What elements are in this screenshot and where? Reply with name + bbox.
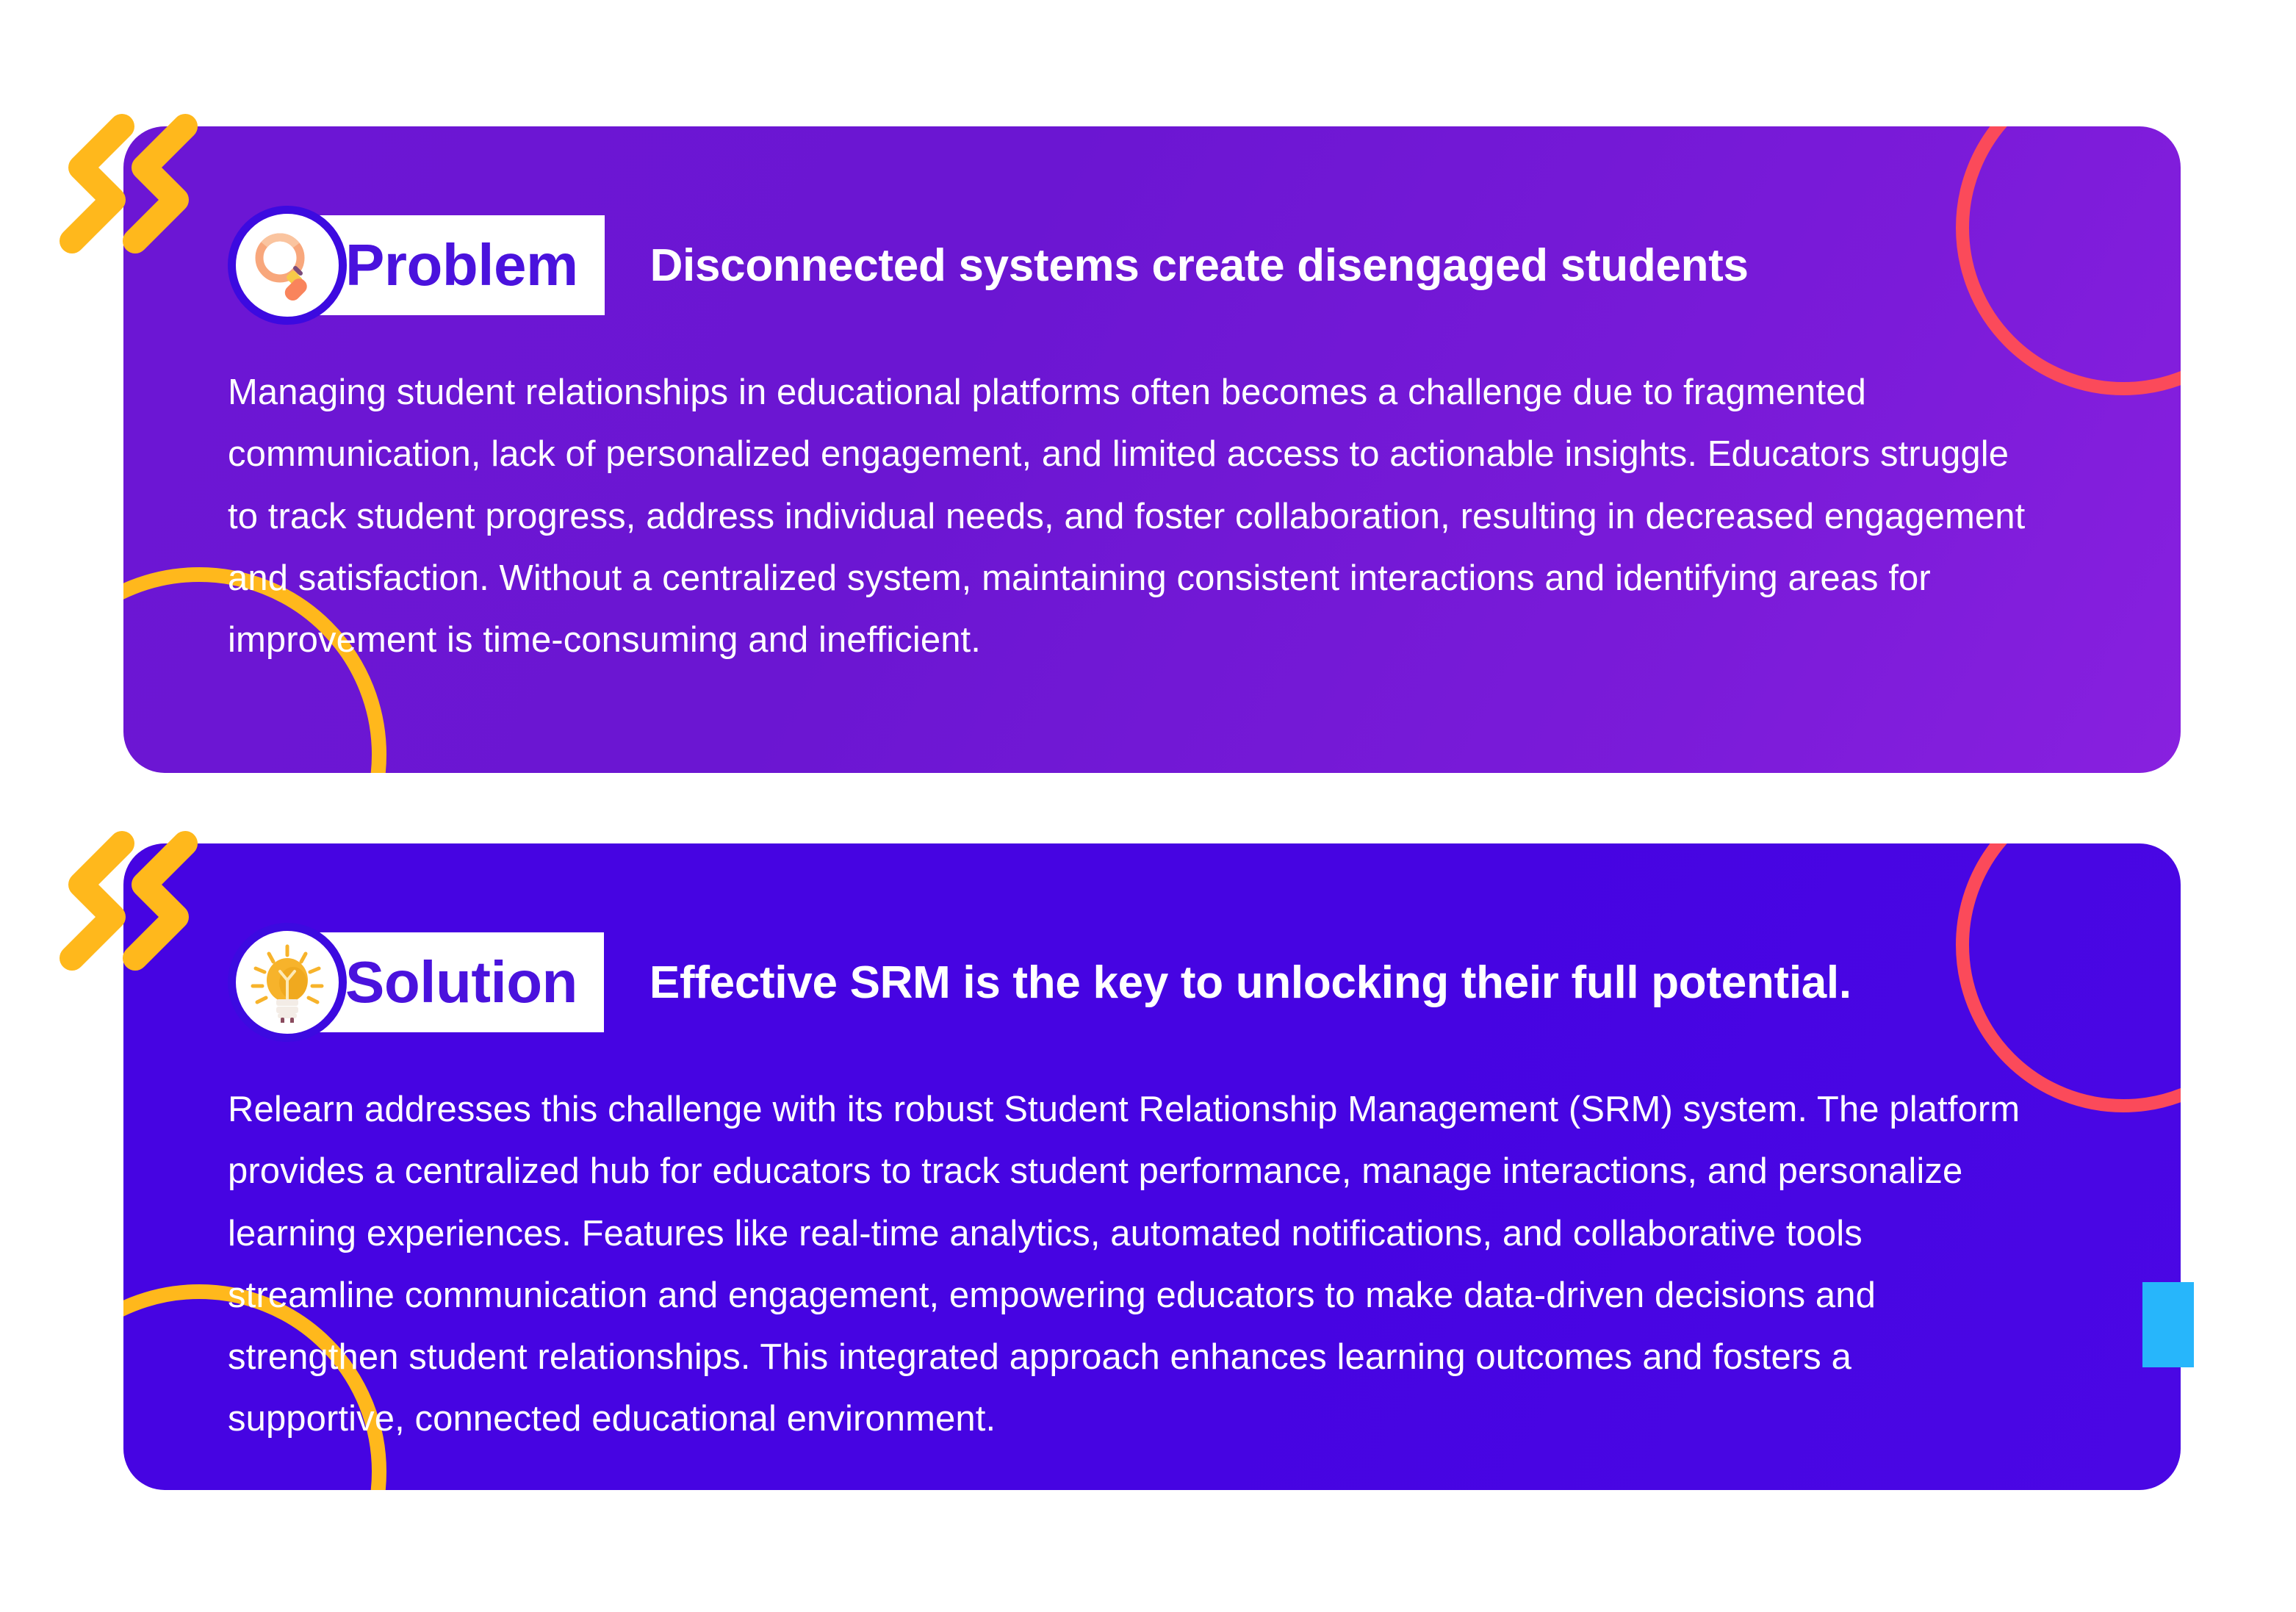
solution-badge: Solution bbox=[228, 923, 604, 1042]
solution-content: Solution Effective SRM is the key to unl… bbox=[228, 923, 2092, 1450]
solution-badge-label: Solution bbox=[304, 932, 604, 1032]
problem-content: Problem Disconnected systems create dise… bbox=[228, 206, 2092, 671]
lightbulb-icon bbox=[228, 923, 347, 1042]
magnifying-glass-icon bbox=[228, 206, 347, 325]
problem-badge-label: Problem bbox=[304, 215, 605, 315]
problem-badge: Problem bbox=[228, 206, 605, 325]
solution-body-text: Relearn addresses this challenge with it… bbox=[228, 1079, 2032, 1450]
page-canvas: Problem Disconnected systems create dise… bbox=[0, 0, 2296, 1612]
blue-square-decoration bbox=[2142, 1282, 2194, 1367]
solution-header-row: Solution Effective SRM is the key to unl… bbox=[228, 923, 2092, 1042]
solution-card: Solution Effective SRM is the key to unl… bbox=[123, 843, 2181, 1490]
problem-card: Problem Disconnected systems create dise… bbox=[123, 126, 2181, 773]
problem-header-row: Problem Disconnected systems create dise… bbox=[228, 206, 2092, 325]
problem-headline: Disconnected systems create disengaged s… bbox=[650, 240, 1749, 292]
problem-body-text: Managing student relationships in educat… bbox=[228, 361, 2032, 671]
solution-headline: Effective SRM is the key to unlocking th… bbox=[649, 957, 1851, 1009]
